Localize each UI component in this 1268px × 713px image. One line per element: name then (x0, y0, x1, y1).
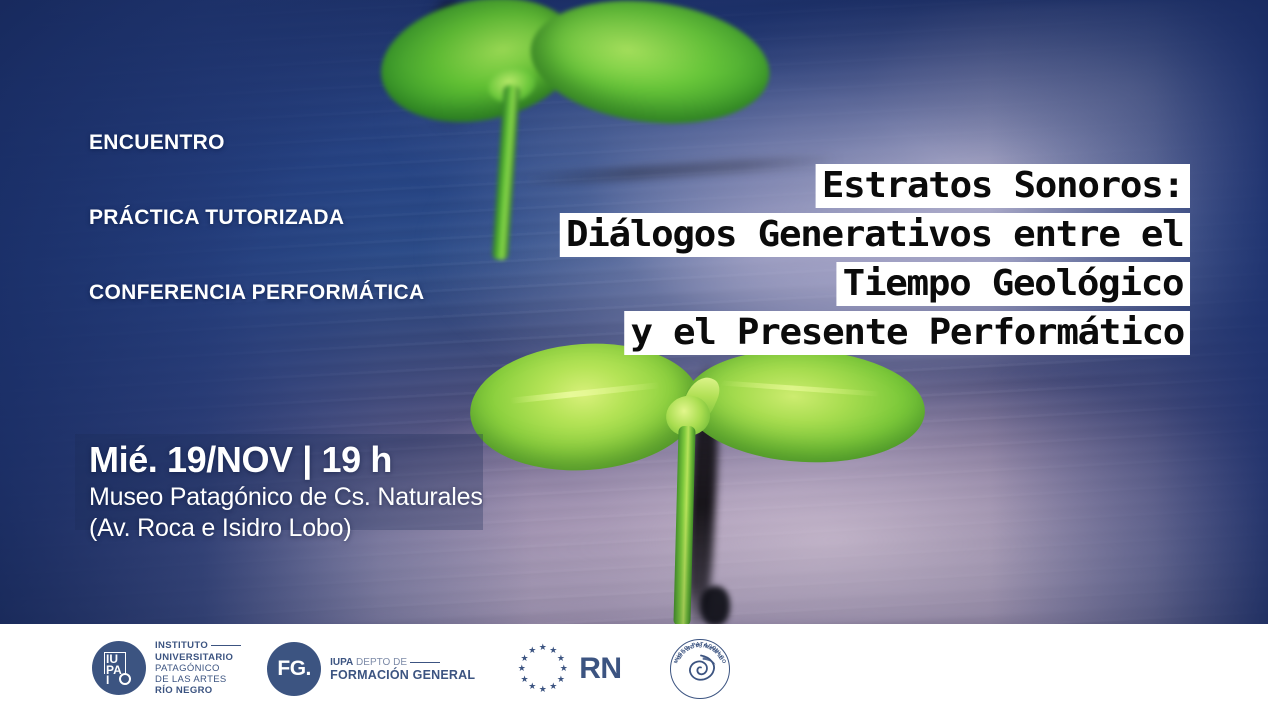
poster-title: Estratos Sonoros: Diálogos Generativos e… (584, 164, 1190, 360)
title-line-4: y el Presente Performático (624, 311, 1190, 355)
title-line-2: Diálogos Generativos entre el (560, 213, 1190, 257)
logo-rio-negro[interactable]: ★★★★★★★★★★★★ RN (517, 643, 621, 695)
star-icon: ★ (557, 654, 565, 663)
kicker-line-2: PRÁCTICA TUTORIZADA (89, 205, 424, 230)
title-row: y el Presente Performático (584, 311, 1190, 360)
logo-footer: IU PA I INSTITUTO UNIVERSITARIO PATAGÓNI… (0, 624, 1268, 713)
event-kicker: ENCUENTRO PRÁCTICA TUTORIZADA CONFERENCI… (89, 80, 424, 355)
event-venue: Museo Patagónico de Cs. Naturales (Av. R… (89, 482, 483, 544)
title-line-3: Tiempo Geológico (837, 262, 1190, 306)
fg-wordmark: IUPA DEPTO DE FORMACIÓN GENERAL (330, 657, 475, 681)
iupa-letter-i: I (106, 674, 109, 686)
title-row: Diálogos Generativos entre el (584, 213, 1190, 262)
star-icon: ★ (549, 682, 557, 691)
venue-line-1: Museo Patagónico de Cs. Naturales (89, 482, 483, 513)
iupa-word-1: INSTITUTO (155, 640, 241, 651)
title-row: Tiempo Geológico (584, 262, 1190, 311)
logo-formacion-general[interactable]: FG. IUPA DEPTO DE FORMACIÓN GENERAL (267, 642, 475, 696)
star-icon: ★ (521, 675, 529, 684)
star-icon: ★ (528, 682, 536, 691)
museum-seal-text: MUSEO PATAGÓNICODE CIENCIAS NATURALES (671, 640, 729, 698)
iupa-rule (211, 645, 241, 646)
kicker-line-1: ENCUENTRO (89, 130, 424, 155)
iupa-circle-shape (119, 673, 131, 685)
star-icon: ★ (560, 664, 568, 673)
star-icon: ★ (528, 646, 536, 655)
venue-line-2: (Av. Roca e Isidro Lobo) (89, 513, 483, 544)
title-row: Estratos Sonoros: (584, 164, 1190, 213)
logo-museo-patagonico[interactable]: MUSEO PATAGÓNICODE CIENCIAS NATURALES (670, 639, 730, 699)
fg-word-1: IUPA DEPTO DE (330, 657, 475, 669)
star-icon: ★ (521, 654, 529, 663)
iupa-monogram: IU PA I (104, 652, 134, 684)
fg-mark-icon: FG. (267, 642, 321, 696)
iupa-wordmark: INSTITUTO UNIVERSITARIO PATAGÓNICO DE LA… (155, 640, 241, 696)
fg-monogram: FG. (277, 657, 311, 681)
star-icon: ★ (557, 675, 565, 684)
stars-circle-icon: ★★★★★★★★★★★★ (517, 643, 569, 695)
iupa-mark-icon: IU PA I (92, 641, 146, 695)
star-icon: ★ (518, 664, 526, 673)
fg-word-2: FORMACIÓN GENERAL (330, 669, 475, 681)
logo-iupa[interactable]: IU PA I INSTITUTO UNIVERSITARIO PATAGÓNI… (92, 640, 241, 696)
iupa-word-3: PATAGÓNICO (155, 663, 241, 674)
title-line-1: Estratos Sonoros: (816, 164, 1190, 208)
museum-seal-icon: MUSEO PATAGÓNICODE CIENCIAS NATURALES (670, 639, 730, 699)
iupa-word-4: DE LAS ARTES (155, 674, 241, 685)
seal-char: S (698, 641, 702, 647)
event-datetime: Mié. 19/NOV | 19 h (89, 440, 392, 480)
logo-row: IU PA I INSTITUTO UNIVERSITARIO PATAGÓNI… (92, 639, 730, 699)
iupa-word-5: RÍO NEGRO (155, 685, 241, 696)
rn-wordmark: RN (579, 652, 621, 686)
fg-rule (410, 662, 440, 663)
event-poster: ENCUENTRO PRÁCTICA TUTORIZADA CONFERENCI… (0, 0, 1268, 713)
iupa-word-2: UNIVERSITARIO (155, 652, 241, 663)
kicker-line-3: CONFERENCIA PERFORMÁTICA (89, 280, 424, 305)
star-icon: ★ (539, 643, 547, 652)
star-icon: ★ (539, 685, 547, 694)
